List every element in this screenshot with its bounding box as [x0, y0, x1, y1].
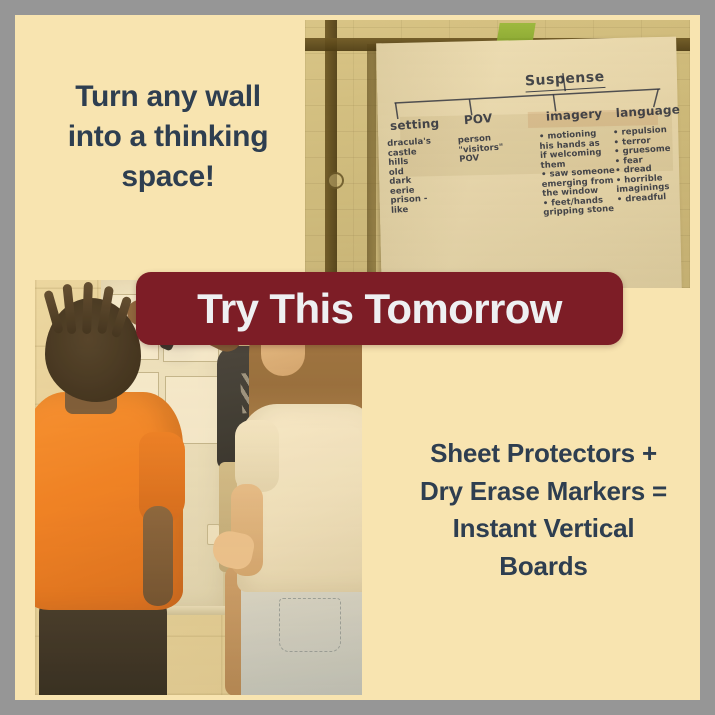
jeans-pocket [279, 598, 341, 652]
hair-loc [82, 282, 93, 334]
tshirt-sleeve [235, 420, 279, 492]
banner-label: Try This Tomorrow [197, 288, 562, 330]
poster-inner-background: Suspense setting dracula's castle hills … [15, 15, 700, 700]
poster-canvas: Suspense setting dracula's castle hills … [0, 0, 715, 715]
headline-line-2: into a thinking [33, 117, 303, 157]
subline-line-3: Instant Vertical [387, 510, 700, 548]
try-this-tomorrow-banner: Try This Tomorrow [136, 272, 623, 345]
chart-column-items-pov: person "visitors" POV [458, 133, 505, 165]
chart-column-heading-setting: setting [390, 117, 440, 133]
subline-text: Sheet Protectors + Dry Erase Markers = I… [387, 435, 700, 586]
door-frame-vertical-trim [325, 20, 337, 288]
door-knob [327, 172, 344, 189]
chart-column-items-setting: dracula's castle hills old dark eerie pr… [387, 137, 435, 216]
chart-column-items-imagery: • motioning his hands as if welcoming th… [539, 129, 618, 219]
subline-line-4: Boards [387, 548, 700, 586]
door-edge-trim [367, 44, 376, 288]
student-dark-pants [39, 600, 167, 695]
chart-column-items-language: • repulsion • terror • gruesome • fear •… [613, 126, 674, 205]
headline-line-1: Turn any wall [33, 77, 303, 117]
chart-column-heading-pov: POV [463, 112, 492, 128]
subline-line-1: Sheet Protectors + [387, 435, 700, 473]
headline-line-3: space! [33, 157, 303, 197]
chart-paper: Suspense setting dracula's castle hills … [376, 37, 682, 288]
subline-line-2: Dry Erase Markers = [387, 473, 700, 511]
anchor-chart-photo: Suspense setting dracula's castle hills … [305, 20, 690, 288]
headline-text: Turn any wall into a thinking space! [33, 77, 303, 197]
student-arm [143, 506, 173, 606]
